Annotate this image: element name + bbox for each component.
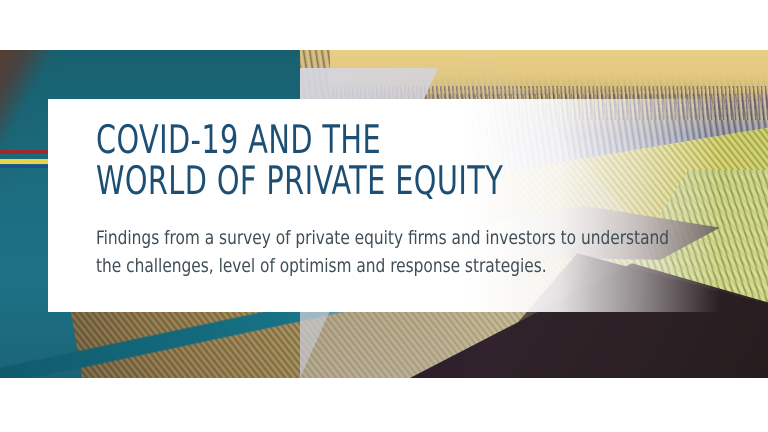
page-subtitle-line-2: the challenges, level of optimism and re… [96, 252, 658, 280]
page-title-line-1: COVID-19 AND THE [96, 120, 608, 161]
page-subtitle-line-1: Findings from a survey of private equity… [96, 202, 658, 252]
page-title-line-2: WORLD OF PRIVATE EQUITY [96, 161, 608, 202]
banner-hero: COVID-19 AND THE WORLD OF PRIVATE EQUITY… [0, 0, 768, 432]
title-card-content: COVID-19 AND THE WORLD OF PRIVATE EQUITY… [96, 120, 720, 280]
title-card: COVID-19 AND THE WORLD OF PRIVATE EQUITY… [48, 99, 720, 312]
